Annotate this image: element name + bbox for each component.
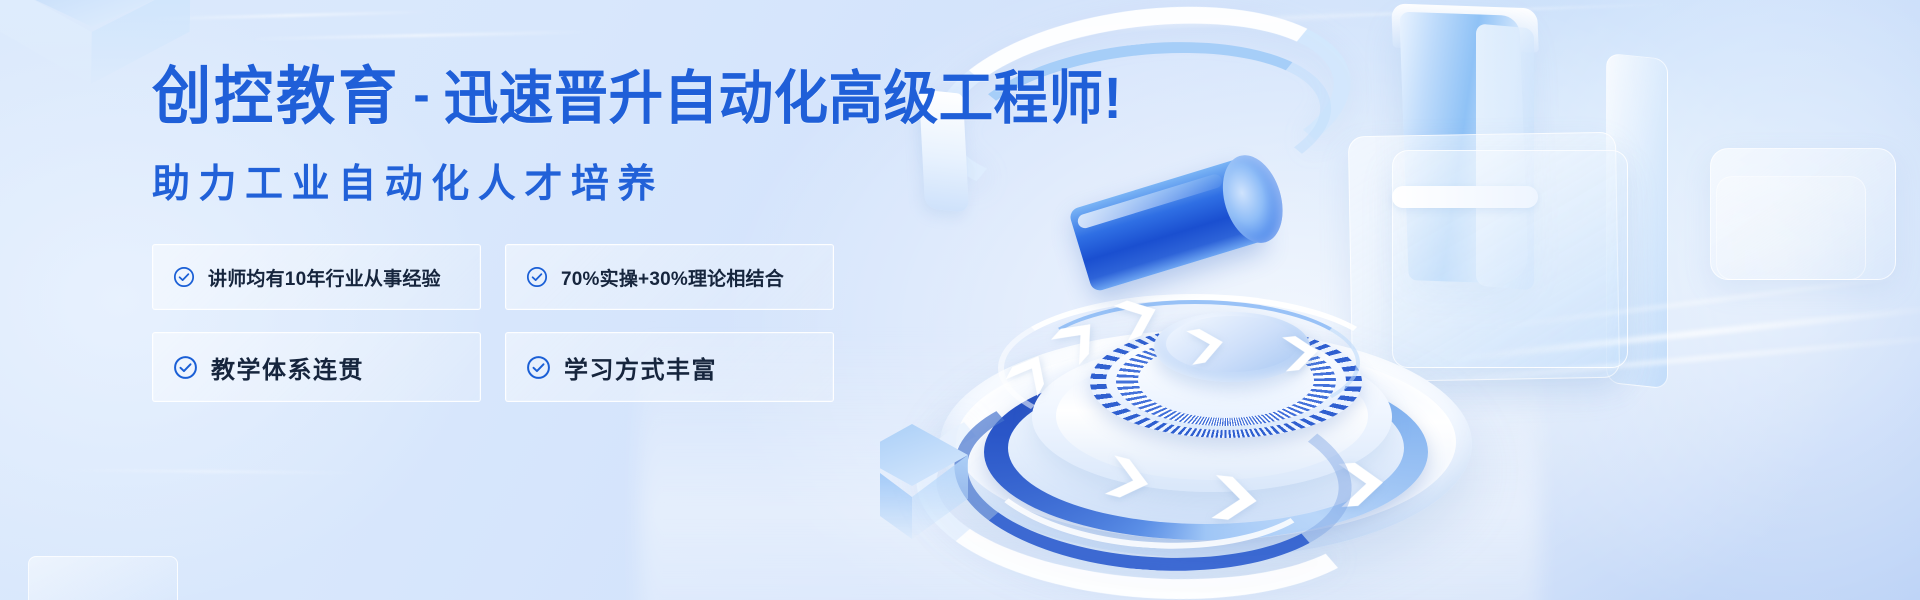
page-title: 创控教育 - 迅速晋升自动化高级工程师! (152, 64, 866, 131)
feature-list: 讲师均有10年行业从事经验 70%实操+30%理论相结合 (152, 244, 834, 402)
feature-label: 教学体系连贯 (211, 350, 364, 385)
feature-card[interactable]: 讲师均有10年行业从事经验 (152, 244, 481, 310)
circle-check-icon (173, 266, 195, 288)
title-separator: - (413, 68, 430, 123)
feature-row-2: 教学体系连贯 学习方式丰富 (152, 332, 834, 402)
light-streak (250, 30, 590, 40)
light-streak (150, 10, 430, 20)
circle-check-icon (526, 266, 548, 288)
page-subtitle: 助力工业自动化人才培养 (152, 153, 889, 209)
feature-card[interactable]: 70%实操+30%理论相结合 (505, 244, 834, 310)
circle-check-icon (526, 355, 551, 380)
circle-check-icon (173, 355, 198, 380)
title-tagline: 迅速晋升自动化高级工程师! (444, 68, 1123, 129)
floating-cube-icon (880, 424, 968, 556)
glass-chip-bottom-left (28, 556, 178, 600)
glass-card-bar (1392, 186, 1538, 208)
feature-label: 讲师均有10年行业从事经验 (208, 264, 441, 291)
feature-card[interactable]: 教学体系连贯 (152, 332, 481, 402)
promo-banner: 创控教育 - 迅速晋升自动化高级工程师! 助力工业自动化人才培养 讲师均有10年… (0, 0, 1920, 600)
brand-name: 创控教育 (152, 64, 400, 131)
feature-label: 70%实操+30%理论相结合 (561, 264, 784, 291)
feature-label: 学习方式丰富 (564, 350, 717, 385)
feature-row-1: 讲师均有10年行业从事经验 70%实操+30%理论相结合 (152, 244, 834, 310)
light-streak (60, 468, 360, 474)
feature-card[interactable]: 学习方式丰富 (505, 332, 834, 402)
headline-block: 创控教育 - 迅速晋升自动化高级工程师! 助力工业自动化人才培养 (152, 64, 912, 209)
